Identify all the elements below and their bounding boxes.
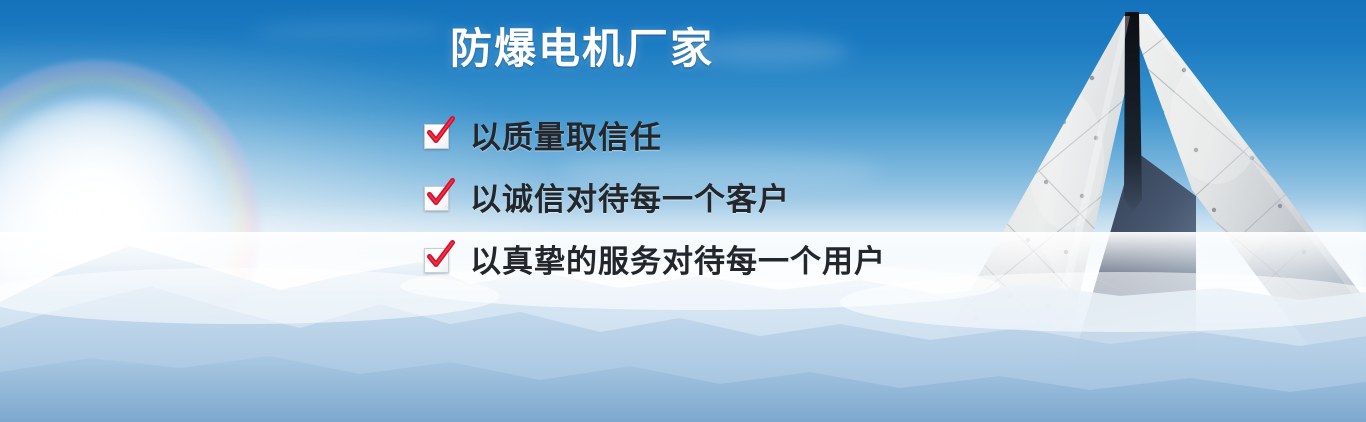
feature-list: 以质量取信任 以诚信对待每一个客户 — [424, 103, 886, 289]
page-title: 防爆电机厂家 — [450, 24, 714, 74]
list-item: 以真挚的服务对待每一个用户 — [424, 227, 886, 289]
red-check-icon — [424, 245, 450, 271]
list-item: 以质量取信任 — [424, 103, 886, 165]
red-check-icon — [424, 121, 450, 147]
list-item: 以诚信对待每一个客户 — [424, 165, 886, 227]
red-check-icon — [424, 183, 450, 209]
banner-content: 防爆电机厂家 以质量取信任 — [0, 0, 900, 422]
list-item-label: 以真挚的服务对待每一个用户 — [470, 236, 886, 281]
promotional-banner: 防爆电机厂家 以质量取信任 — [0, 0, 1366, 422]
list-item-label: 以质量取信任 — [470, 112, 662, 157]
apex-gap-icon — [1124, 12, 1142, 212]
list-item-label: 以诚信对待每一个客户 — [470, 174, 790, 219]
